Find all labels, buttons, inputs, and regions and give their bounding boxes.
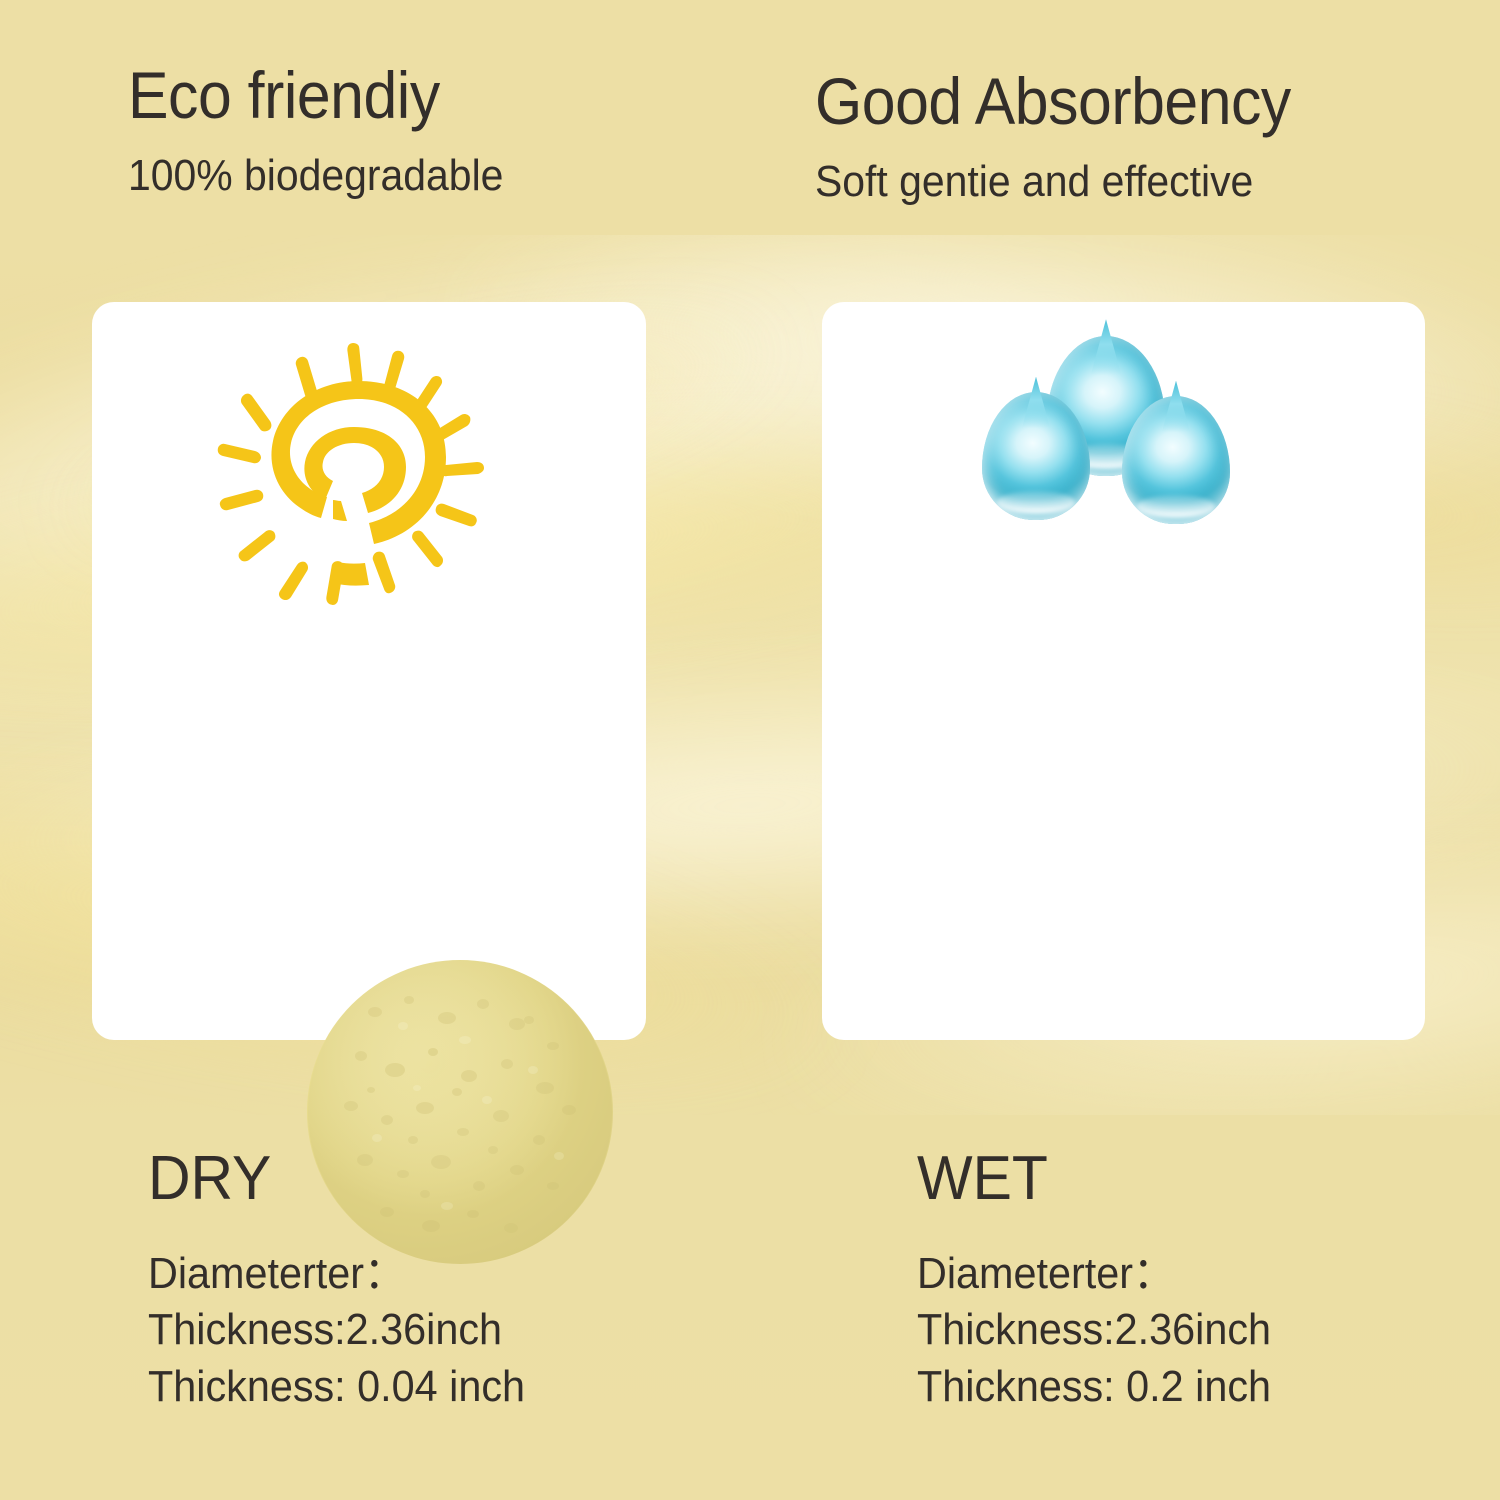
state-label-wet: WET	[917, 1148, 1275, 1210]
label-block-dry: DRY Diameterter： Thickness:2.36inch Thic…	[148, 1148, 549, 1415]
heading-subtitle-wet: Soft gentie and effective	[815, 160, 1296, 204]
heading-good-absorbency: Good Absorbency Soft gentie and effectiv…	[815, 68, 1332, 204]
spec-thickness-a-wet: Thickness:2.36inch	[917, 1302, 1271, 1358]
heading-subtitle-dry: 100% biodegradable	[128, 154, 503, 198]
heading-eco-friendly: Eco friendiy 100% biodegradable	[128, 62, 532, 198]
card-dry	[92, 302, 646, 1040]
spec-thickness-b-wet: Thickness: 0.2 inch	[917, 1359, 1271, 1415]
card-wet	[822, 302, 1425, 1040]
water-drops-icon	[972, 330, 1272, 580]
sun-icon	[204, 337, 514, 617]
spec-diameter-wet: Diameterter：	[917, 1246, 1271, 1302]
product-infographic: Eco friendiy 100% biodegradable	[0, 0, 1500, 1500]
label-block-wet: WET Diameterter： Thickness:2.36inch Thic…	[917, 1148, 1294, 1415]
heading-title-dry: Eco friendiy	[128, 62, 499, 128]
heading-title-wet: Good Absorbency	[815, 68, 1291, 134]
spec-diameter-dry: Diameterter：	[148, 1246, 525, 1302]
spec-thickness-b-dry: Thickness: 0.04 inch	[148, 1359, 525, 1415]
spec-thickness-a-dry: Thickness:2.36inch	[148, 1302, 525, 1358]
state-label-dry: DRY	[148, 1148, 529, 1210]
